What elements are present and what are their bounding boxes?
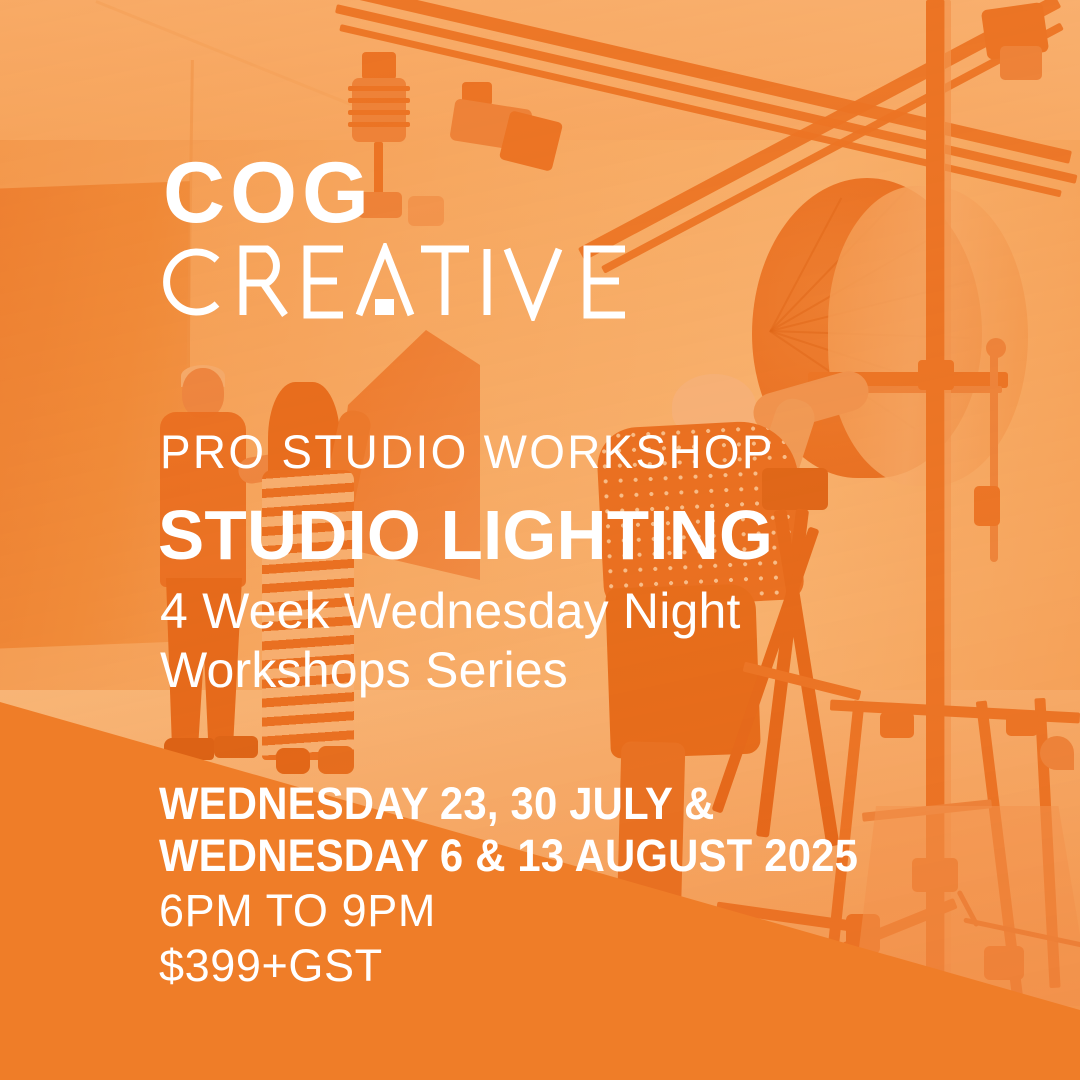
poster-content: COG bbox=[0, 0, 1080, 1080]
page-title: STUDIO LIGHTING bbox=[158, 500, 773, 570]
logo-wordmark-creative bbox=[163, 243, 633, 321]
event-time: 6PM TO 9PM bbox=[159, 884, 911, 937]
subtitle-line-2: Workshops Series bbox=[160, 641, 741, 700]
event-details-block: WEDNESDAY 23, 30 JULY & WEDNESDAY 6 & 13… bbox=[159, 778, 911, 993]
event-date-line-2: WEDNESDAY 6 & 13 AUGUST 2025 bbox=[159, 830, 858, 882]
poster-canvas: COG bbox=[0, 0, 1080, 1080]
subtitle-line-1: 4 Week Wednesday Night bbox=[160, 582, 741, 641]
eyebrow-label: PRO STUDIO WORKSHOP bbox=[160, 428, 775, 475]
logo-wordmark-cog: COG bbox=[163, 152, 633, 235]
event-price: $399+GST bbox=[159, 939, 911, 992]
event-date-line-1: WEDNESDAY 23, 30 JULY & bbox=[159, 778, 858, 830]
cog-creative-logo[interactable]: COG bbox=[163, 152, 633, 321]
subtitle-block: 4 Week Wednesday Night Workshops Series bbox=[160, 582, 741, 700]
